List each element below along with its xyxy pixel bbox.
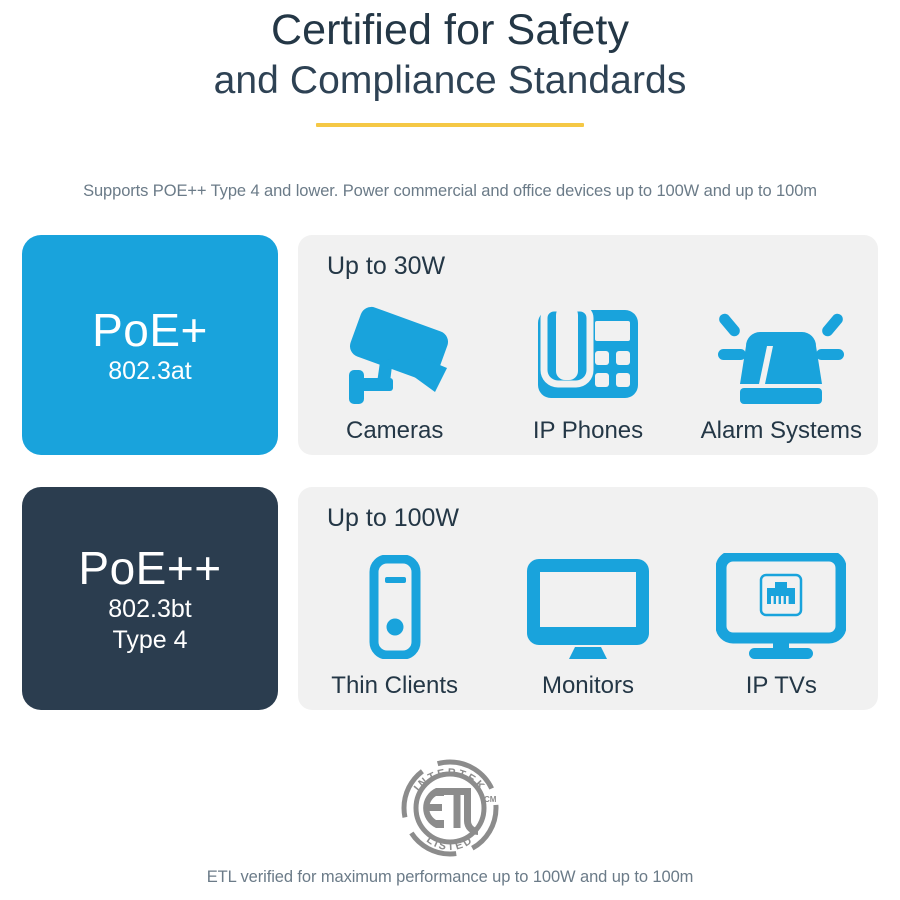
device-item-ip-tvs: IP TVs (685, 549, 878, 700)
device-caption: Alarm Systems (701, 417, 862, 445)
certification-logo-wrap: INTERTEK LISTED CM (0, 752, 900, 869)
poe-plusplus-device-list: Thin Clients Monitors (298, 535, 878, 700)
poe-plus-badge: PoE+ 802.3at (22, 235, 278, 455)
monitor-icon (523, 549, 653, 665)
poe-plusplus-power-label: Up to 100W (327, 504, 459, 533)
device-caption: Monitors (542, 672, 634, 700)
poe-plusplus-badge-standard: 802.3bt (108, 594, 191, 625)
alarm-siren-icon (716, 298, 846, 410)
device-item-cameras: Cameras (298, 298, 491, 445)
rj45-connector-glyph (761, 575, 801, 615)
device-caption: IP TVs (746, 672, 817, 700)
poe-plusplus-badge-type: Type 4 (112, 625, 187, 656)
poe-plusplus-badge: PoE++ 802.3bt Type 4 (22, 487, 278, 710)
subtitle-text: Supports POE++ Type 4 and lower. Power c… (0, 182, 900, 201)
device-caption: Cameras (346, 417, 443, 445)
poe-plusplus-row: PoE++ 802.3bt Type 4 Up to 100W Thin Cli… (22, 487, 878, 710)
page-title-line-1: Certified for Safety (0, 4, 900, 56)
cctv-camera-icon (335, 298, 455, 410)
ip-tv-icon (716, 549, 846, 665)
page-header: Certified for Safety and Compliance Stan… (0, 0, 900, 127)
poe-plus-badge-standard: 802.3at (108, 356, 191, 387)
poe-plus-power-label: Up to 30W (327, 252, 445, 281)
footnote-text: ETL verified for maximum performance up … (0, 868, 900, 887)
poe-plus-row: PoE+ 802.3at Up to 30W (22, 235, 878, 455)
device-item-ip-phones: IP Phones (491, 298, 684, 445)
device-caption: Thin Clients (331, 672, 458, 700)
etl-center-text (423, 788, 478, 835)
ip-phone-icon (533, 298, 643, 410)
poe-plusplus-badge-title: PoE++ (78, 542, 221, 594)
thin-client-icon (360, 549, 430, 665)
etl-superscript: CM (484, 795, 497, 804)
etl-intertek-listed-logo: INTERTEK LISTED CM (392, 752, 508, 869)
poe-plus-devices-panel: Up to 30W Cameras (298, 235, 878, 455)
device-item-thin-clients: Thin Clients (298, 549, 491, 700)
device-item-monitors: Monitors (491, 549, 684, 700)
poe-plusplus-devices-panel: Up to 100W Thin Clients (298, 487, 878, 710)
device-item-alarm-systems: Alarm Systems (685, 298, 878, 445)
page-title-line-2: and Compliance Standards (0, 56, 900, 106)
title-underline-rule (316, 123, 584, 127)
device-caption: IP Phones (533, 417, 643, 445)
poe-plus-device-list: Cameras (298, 283, 878, 445)
poe-plus-badge-title: PoE+ (92, 304, 208, 356)
